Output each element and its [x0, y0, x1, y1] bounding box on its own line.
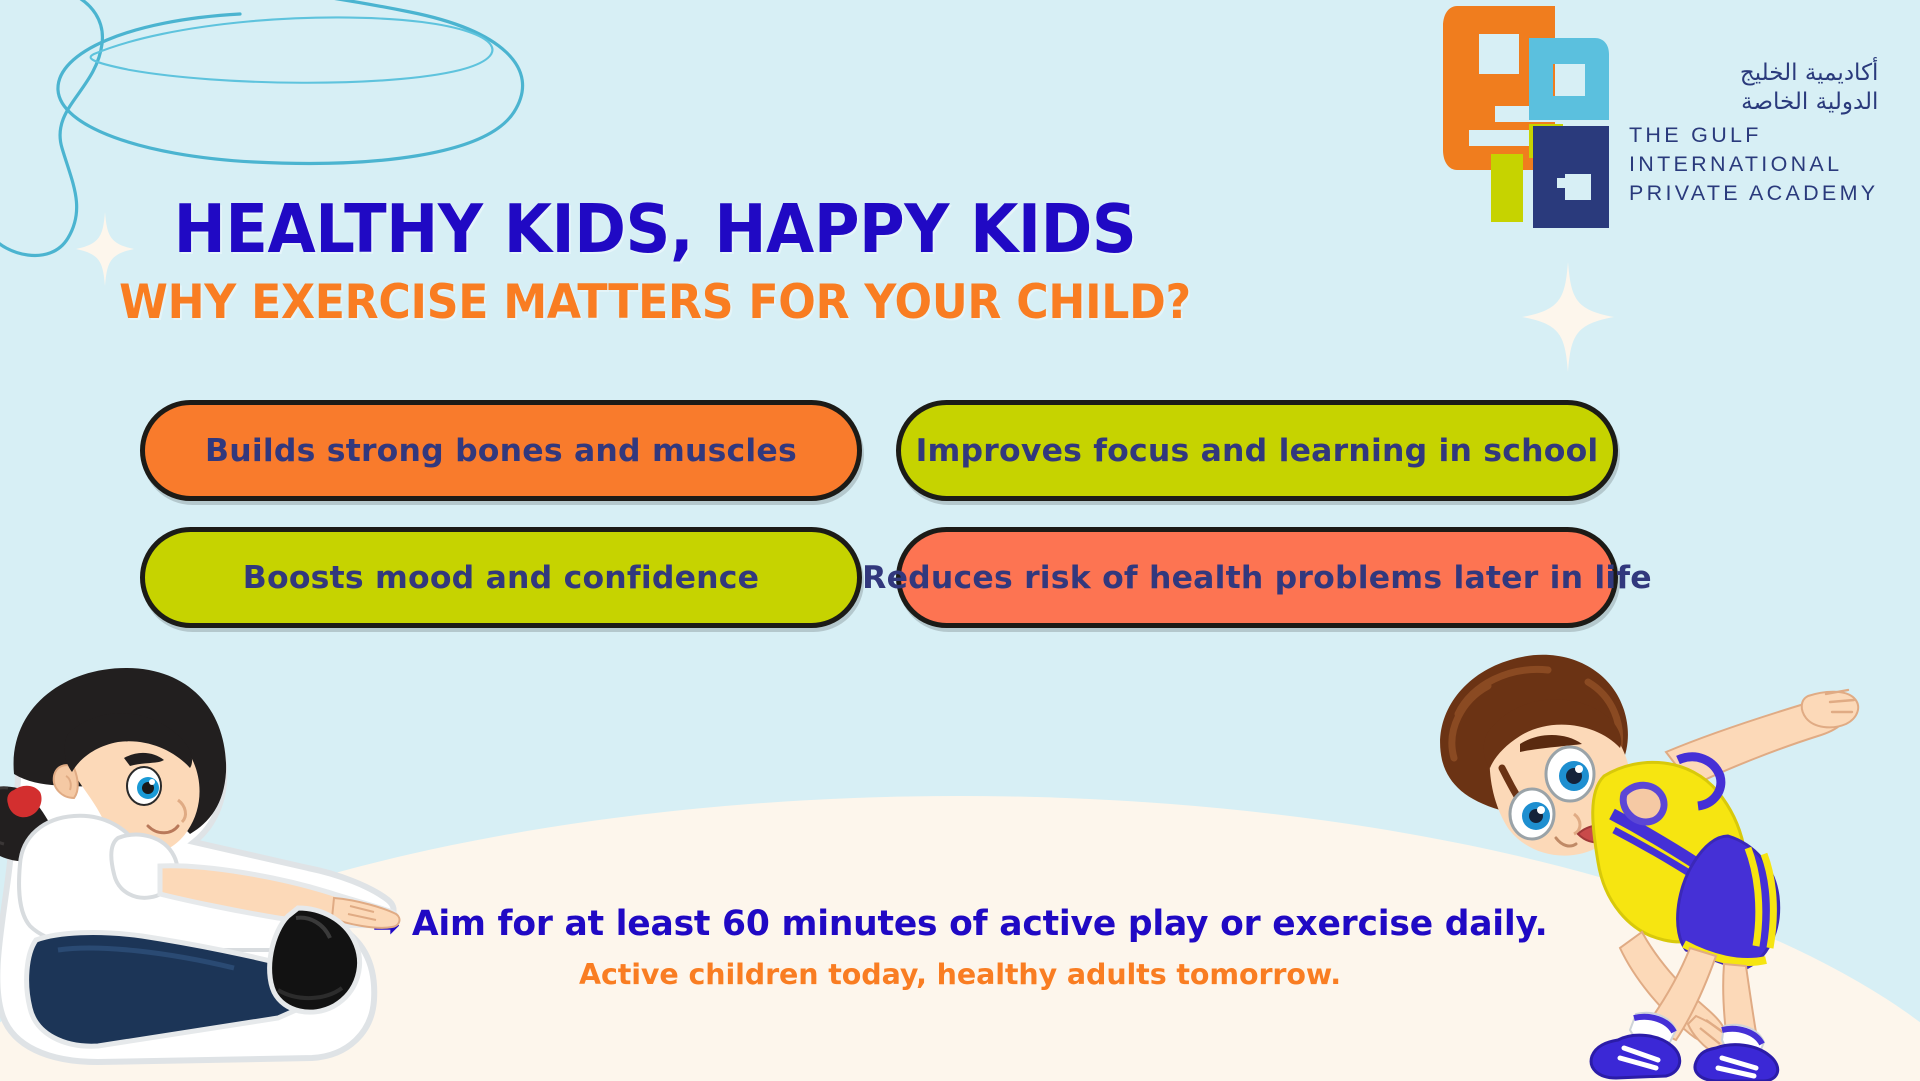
logo-english-line-3: PRIVATE ACADEMY: [1629, 180, 1878, 207]
benefit-pill-1[interactable]: Builds strong bones and muscles: [140, 400, 862, 501]
sparkle-icon-right: [1522, 262, 1614, 372]
logo-english-line-2: INTERNATIONAL: [1629, 151, 1878, 178]
logo-mark-icon: [1443, 2, 1609, 230]
poster-canvas: أكاديمية الخليج الدولية الخاصة THE GULF …: [0, 0, 1920, 1081]
logo-english-line-1: THE GULF: [1629, 122, 1878, 149]
footer-main-line: ➡ Aim for at least 60 minutes of active …: [330, 905, 1590, 945]
footer-sub-text: Active children today, healthy adults to…: [330, 959, 1590, 992]
heading-block: HEALTHY KIDS, HAPPY KIDS WHY EXERCISE MA…: [0, 196, 1310, 326]
school-logo: أكاديمية الخليج الدولية الخاصة THE GULF …: [1443, 2, 1913, 232]
footer-block: ➡ Aim for at least 60 minutes of active …: [330, 905, 1590, 991]
benefit-pill-3[interactable]: Boosts mood and confidence: [140, 527, 862, 628]
logo-text-block: أكاديمية الخليج الدولية الخاصة THE GULF …: [1629, 2, 1878, 206]
logo-arabic-line-1: أكاديمية الخليج: [1629, 60, 1878, 87]
logo-arabic-line-2: الدولية الخاصة: [1629, 89, 1878, 116]
benefit-pill-4[interactable]: Reduces risk of health problems later in…: [896, 527, 1618, 628]
benefit-pill-2[interactable]: Improves focus and learning in school: [896, 400, 1618, 501]
page-title: HEALTHY KIDS, HAPPY KIDS: [46, 196, 1264, 263]
page-subtitle: WHY EXERCISE MATTERS FOR YOUR CHILD?: [39, 279, 1270, 326]
footer-main-text: Aim for at least 60 minutes of active pl…: [412, 905, 1548, 945]
benefits-grid: Builds strong bones and muscles Improves…: [140, 400, 1618, 628]
arrow-right-icon: ➡: [372, 908, 399, 941]
